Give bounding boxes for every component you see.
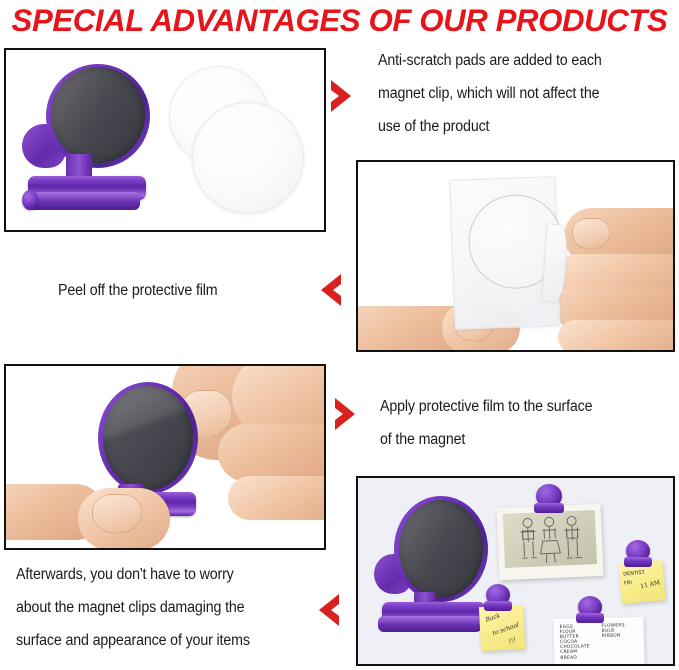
step-4-text: Afterwards, you don't have to worry abou… xyxy=(16,558,323,657)
arrow-right-icon xyxy=(328,78,356,114)
panel-magnet-clip-with-film-discs xyxy=(4,48,326,232)
fridge-magnet-clip-dentist-note xyxy=(624,540,652,570)
right-ring-finger xyxy=(228,476,326,520)
three-figures-drawing xyxy=(503,510,597,568)
sticky-dentist-line2: FRI xyxy=(624,580,632,587)
sticky-dentist-line1: DENTIST xyxy=(623,570,645,578)
step-1-line-2: magnet clip, which will not affect the xyxy=(378,77,676,110)
film-applied-sheen xyxy=(103,386,193,490)
right-middle-finger xyxy=(218,424,326,482)
step-3-line-1: Apply protective film to the surface xyxy=(380,390,678,423)
clip-bar xyxy=(484,601,512,611)
fridge-magnet-clip-list xyxy=(576,596,604,626)
list-item: BREAD xyxy=(560,655,590,661)
right-thumb-nail xyxy=(572,218,610,250)
magnet-clip-product-image xyxy=(20,62,156,222)
arrow-right-icon xyxy=(332,396,360,432)
step-3-text: Apply protective film to the surface of … xyxy=(380,390,678,456)
fridge-magnet-clip-large xyxy=(374,496,494,636)
step-1-text: Anti-scratch pads are added to each magn… xyxy=(378,44,676,143)
arrow-left-icon xyxy=(314,592,342,628)
sticky-dentist-line3: 11 AM xyxy=(640,579,661,590)
page-title: SPECIAL ADVANTAGES OF OUR PRODUCTS xyxy=(3,2,675,39)
step-2-line-1: Peel off the protective film xyxy=(58,274,309,307)
clip-lip xyxy=(378,616,482,632)
step-1-line-3: use of the product xyxy=(378,110,676,143)
polaroid-photo-image xyxy=(503,510,597,568)
step-1-line-1: Anti-scratch pads are added to each xyxy=(378,44,676,77)
fridge-magnet-clip-school-note xyxy=(484,584,512,614)
magnet-face xyxy=(51,67,145,163)
arrow-left-icon xyxy=(316,272,344,308)
step-3-line-2: of the magnet xyxy=(380,423,678,456)
panel-hands-applying-film xyxy=(4,364,326,550)
list-item: RIBBON xyxy=(602,634,625,640)
sticky-school-line2: to school xyxy=(492,622,520,638)
fridge-magnet-clip-photo xyxy=(534,484,564,516)
magnet-face xyxy=(399,500,483,598)
shopping-list-left-column: EGGS FLOUR BUTTER COCOA CHOCOLATE CREAM … xyxy=(559,624,590,660)
clip-bar xyxy=(576,613,604,623)
panel-fridge-scene: Back to school !!! EGGS FLOUR BUTTER COC… xyxy=(356,476,675,666)
sticky-school-line3: !!! xyxy=(508,636,517,645)
clip-lip xyxy=(24,192,140,210)
clip-hinge xyxy=(22,190,38,210)
step-4-line-2: about the magnet clips damaging the xyxy=(16,591,323,624)
step-2-text: Peel off the protective film xyxy=(58,274,309,307)
shopping-list-right-column: FLOWERS BULB RIBBON xyxy=(601,623,625,639)
clip-bar xyxy=(534,503,564,513)
panel-hands-peeling-film xyxy=(356,160,675,352)
protective-film-disc-front xyxy=(192,102,304,214)
left-thumb-nail xyxy=(92,494,142,534)
clip-bar xyxy=(624,557,652,567)
step-4-line-1: Afterwards, you don't have to worry xyxy=(16,558,323,591)
right-ring-finger xyxy=(558,320,675,352)
step-4-line-3: surface and appearance of your items xyxy=(16,624,323,657)
